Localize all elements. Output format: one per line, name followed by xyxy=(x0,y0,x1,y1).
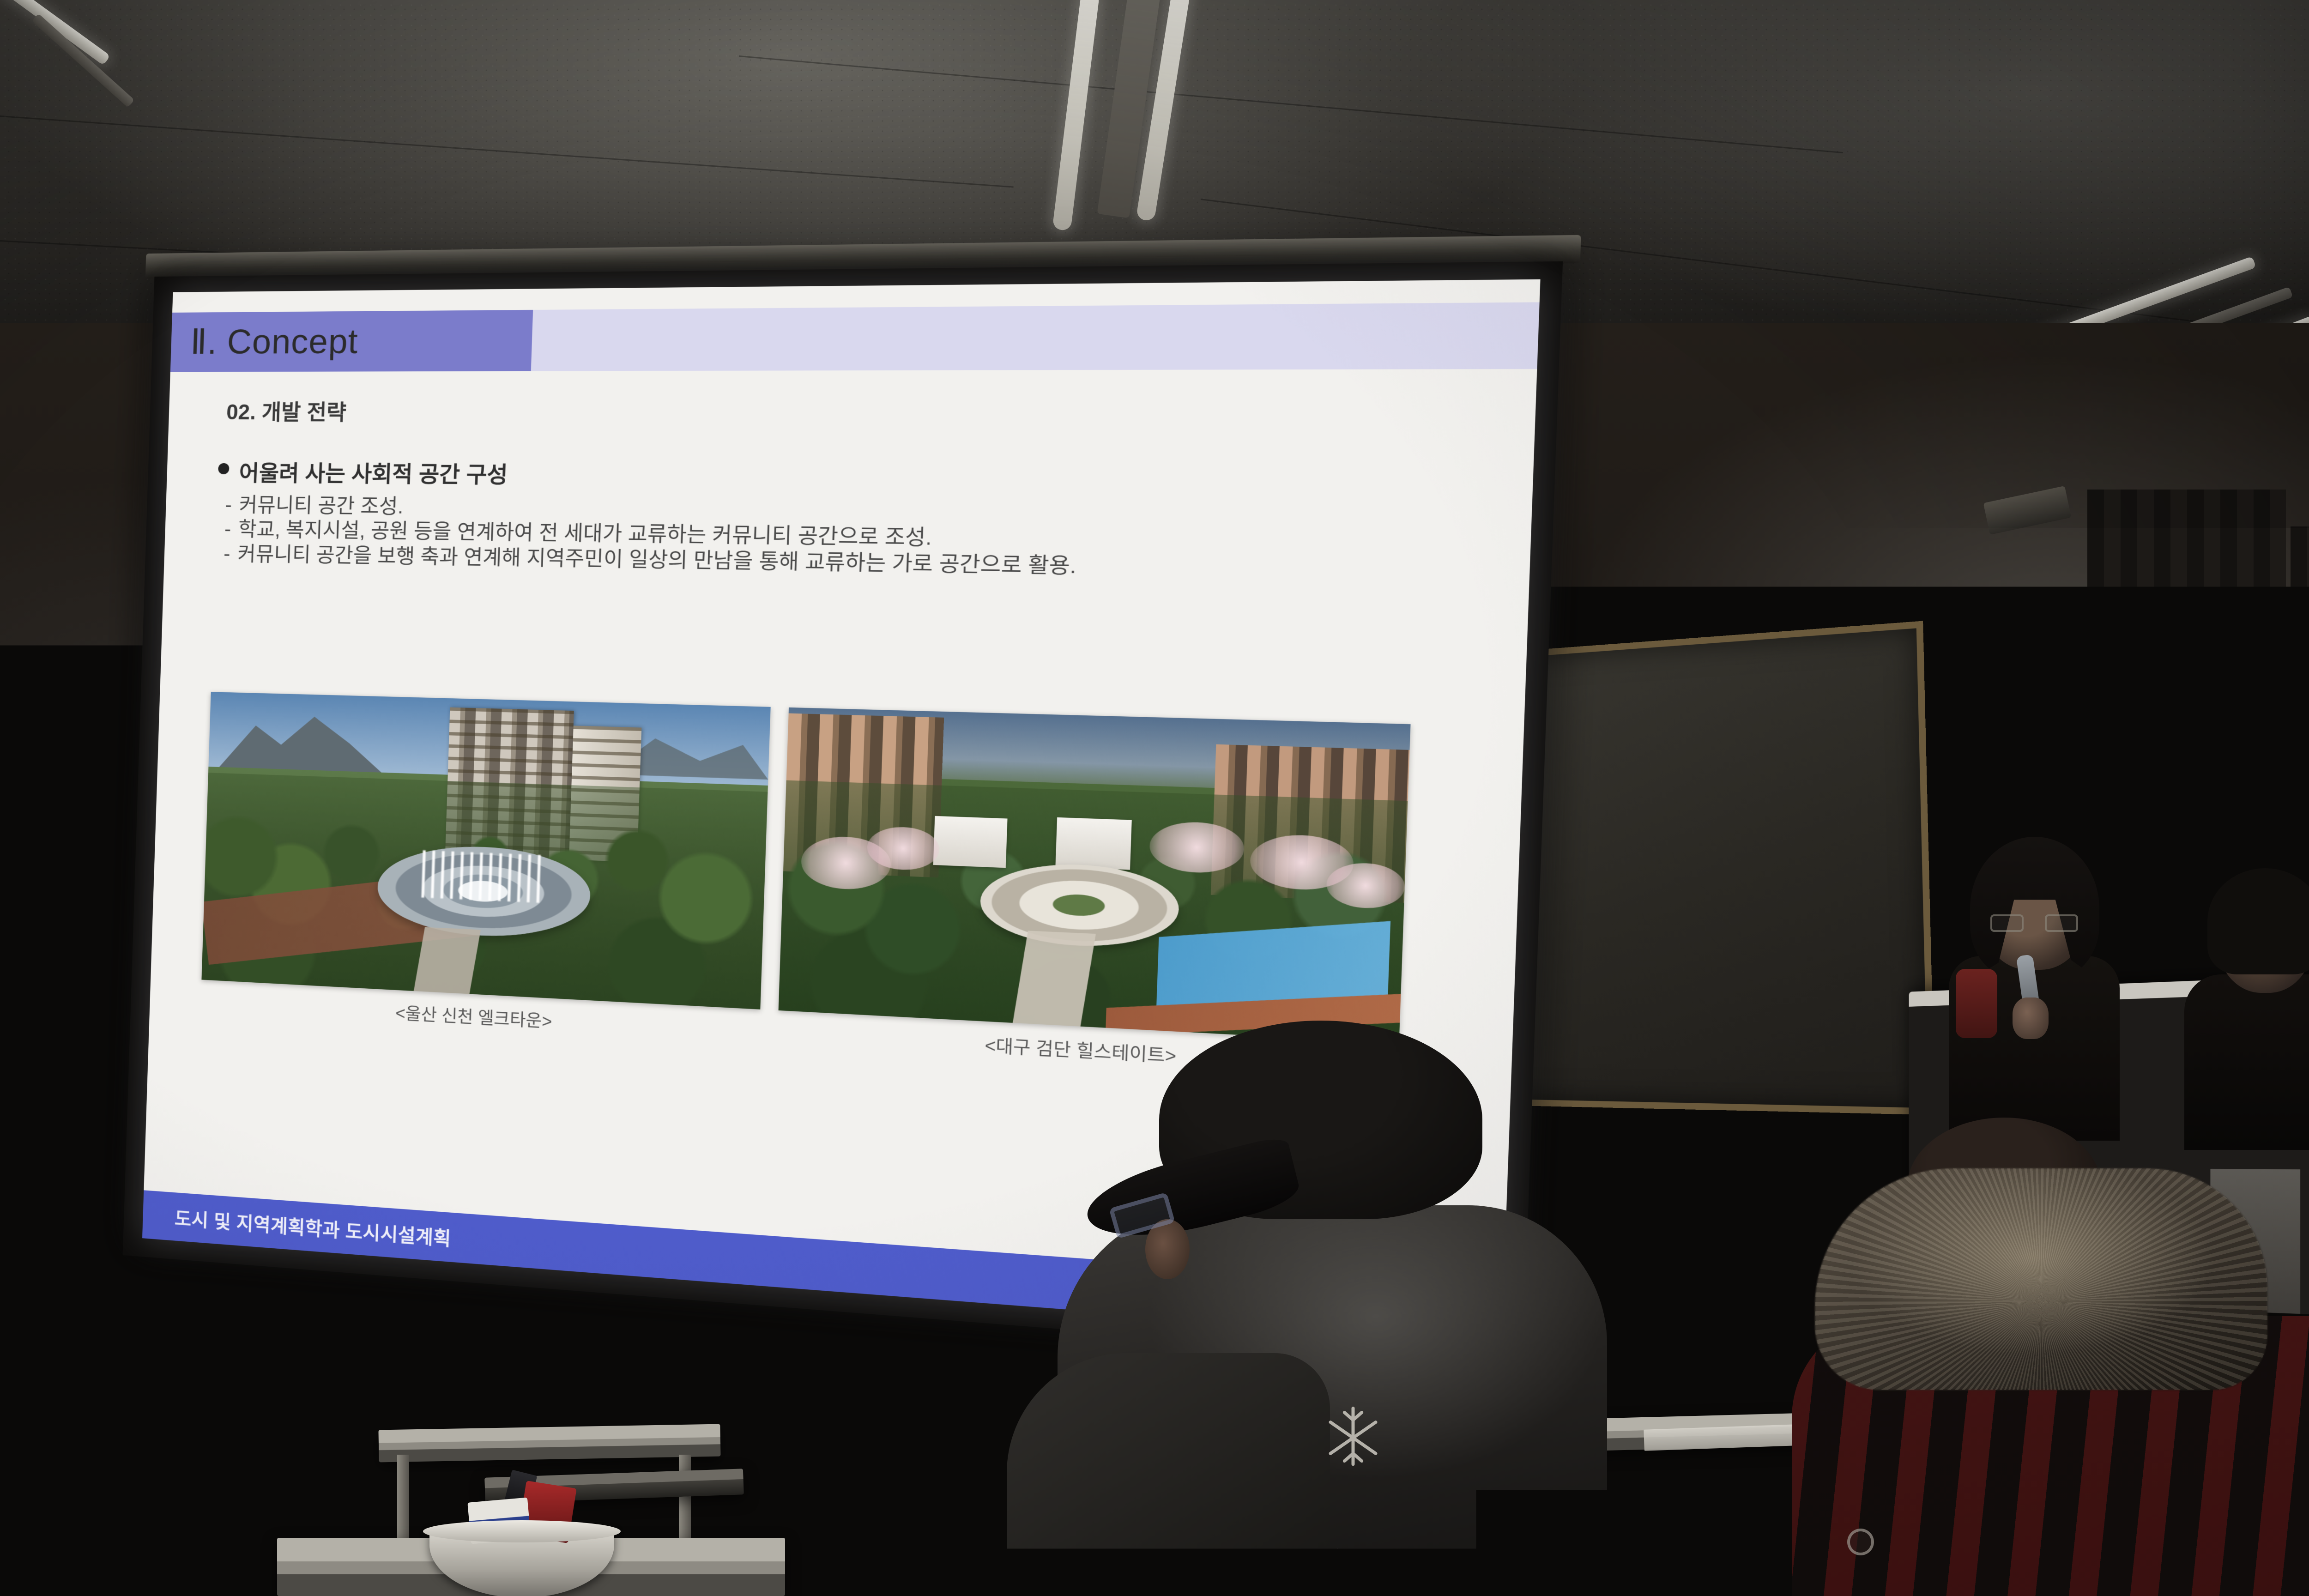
lecture-hall-scene: Ⅱ. Concept 02. 개발 전략 어울려 사는 사회적 공간 구성 - … xyxy=(0,0,2309,1596)
snowflake-logo-icon xyxy=(1325,1404,1381,1469)
presenter-with-microphone xyxy=(1930,845,2129,1131)
bullet-dash-icon: - xyxy=(224,518,231,541)
pedestrian-path xyxy=(414,927,481,994)
figure-image-left xyxy=(201,692,770,1010)
bowl-rim xyxy=(423,1520,621,1542)
hoodie-shoulder xyxy=(1007,1353,1330,1596)
slide-section-chip: Ⅱ. Concept xyxy=(170,310,533,372)
wall-control-box[interactable] xyxy=(1990,605,2046,679)
student-desk xyxy=(378,1424,720,1463)
bullet-main-text: 어울려 사는 사회적 공간 구성 xyxy=(239,455,508,489)
figure-image-right xyxy=(779,707,1411,1044)
slide-section-title: Ⅱ. Concept xyxy=(171,321,359,362)
bullet-dash-icon: - xyxy=(223,542,230,566)
fountain-jets xyxy=(422,850,546,903)
audience-member-with-cap xyxy=(1007,1021,1727,1596)
bullet-dot-icon xyxy=(218,463,230,474)
poster-schedule-block xyxy=(6,984,112,1054)
bullet-sub-text: 커뮤니티 공간 조성. xyxy=(239,494,404,519)
bullet-dash-icon: - xyxy=(225,493,232,517)
poster-schedule-block xyxy=(0,1046,75,1111)
hoodie-script-print xyxy=(1302,1538,1505,1593)
eyeglasses-icon xyxy=(1990,914,2078,933)
poster-text-block xyxy=(0,903,42,985)
presenter-scarf xyxy=(1956,969,1997,1038)
fur-hood-strands xyxy=(1815,1168,2267,1390)
audience-member-with-fur-hood xyxy=(1709,1118,2309,1596)
slide-figure-row xyxy=(201,692,1410,1043)
presenter-hand xyxy=(2013,997,2049,1039)
desk-leg xyxy=(397,1455,409,1547)
pavilion-canopy xyxy=(933,816,1008,868)
slide-footer-text: 도시 및 지역계획학과 도시시설계획 xyxy=(143,1201,452,1251)
slide-bullet-list: 어울려 사는 사회적 공간 구성 - 커뮤니티 공간 조성. - 학교, 복지시… xyxy=(215,455,1482,586)
slide-subsection-title: 02. 개발 전략 xyxy=(226,395,347,426)
pavilion-canopy xyxy=(1055,817,1131,870)
coat-button xyxy=(1847,1529,1874,1555)
second-person-at-lectern xyxy=(2180,868,2309,1145)
person-hair xyxy=(2207,868,2309,974)
status-led xyxy=(2037,669,2042,674)
poster-footer-block xyxy=(19,1231,135,1277)
bullet-main: 어울려 사는 사회적 공간 구성 xyxy=(218,455,1482,497)
